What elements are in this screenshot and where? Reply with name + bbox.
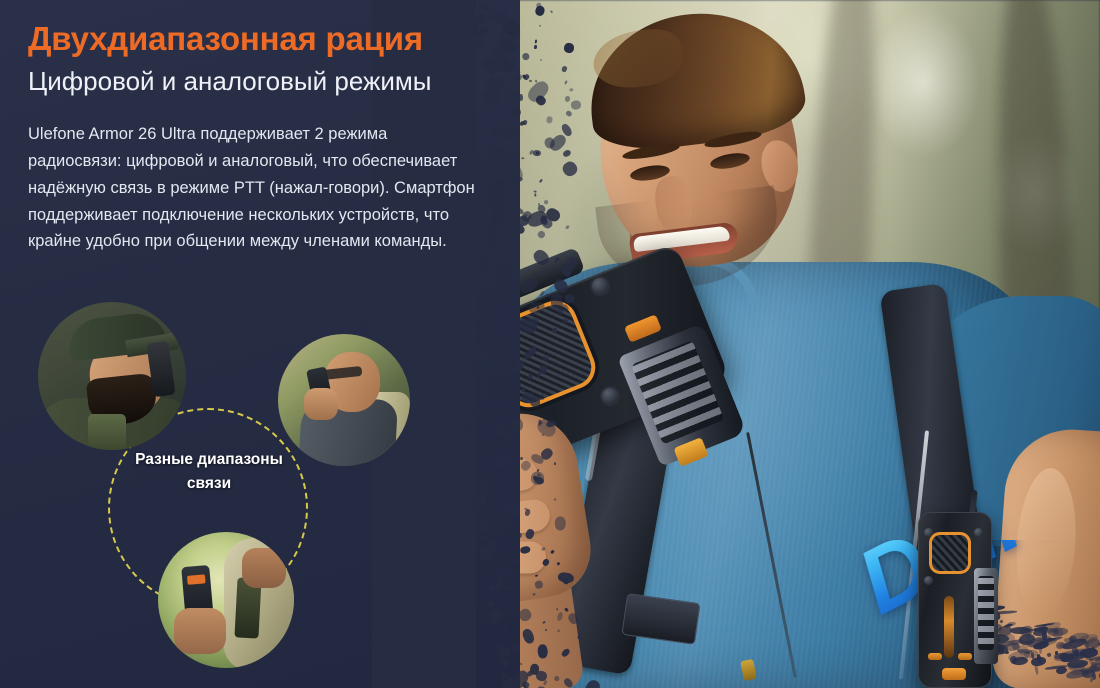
cluster-label: Разные диапазоны связи	[118, 448, 300, 496]
hand	[174, 608, 226, 654]
chest-pouch	[88, 414, 126, 450]
phone-corner-screw	[600, 386, 620, 406]
circle-photo-hiker	[278, 334, 410, 466]
body-paragraph: Ulefone Armor 26 Ultra поддерживает 2 ре…	[28, 121, 478, 255]
mini-side-grille	[974, 568, 998, 664]
circle-photo-soldier	[38, 302, 186, 450]
mini-orange-button	[942, 668, 966, 680]
copy-block: Двухдиапазонная рация Цифровой и аналого…	[28, 20, 498, 255]
page-title: Двухдиапазонная рация	[28, 20, 498, 58]
rugged-phone-mini	[918, 512, 992, 688]
mini-speaker-grille	[929, 532, 971, 574]
mini-small-button	[928, 653, 942, 660]
mini-corner-screw	[924, 528, 933, 537]
product-banner: DMR Двухдиапазонная рация Цифровой и ана…	[0, 0, 1100, 688]
mini-corner-screw	[974, 528, 983, 537]
page-subtitle: Цифровой и аналоговый режимы	[28, 66, 498, 97]
hand	[304, 388, 338, 420]
cluster-label-line-1: Разные диапазоны	[135, 451, 283, 468]
mini-small-button	[958, 653, 972, 660]
mini-orange-strip	[944, 596, 954, 658]
circle-photo-camo-radios	[158, 532, 294, 668]
phone-corner-screw	[590, 276, 610, 296]
cluster-label-line-2: связи	[187, 475, 231, 492]
mini-corner-screw	[924, 576, 933, 585]
hand	[242, 548, 286, 588]
use-case-circle-cluster: Разные диапазоны связи	[30, 300, 390, 670]
